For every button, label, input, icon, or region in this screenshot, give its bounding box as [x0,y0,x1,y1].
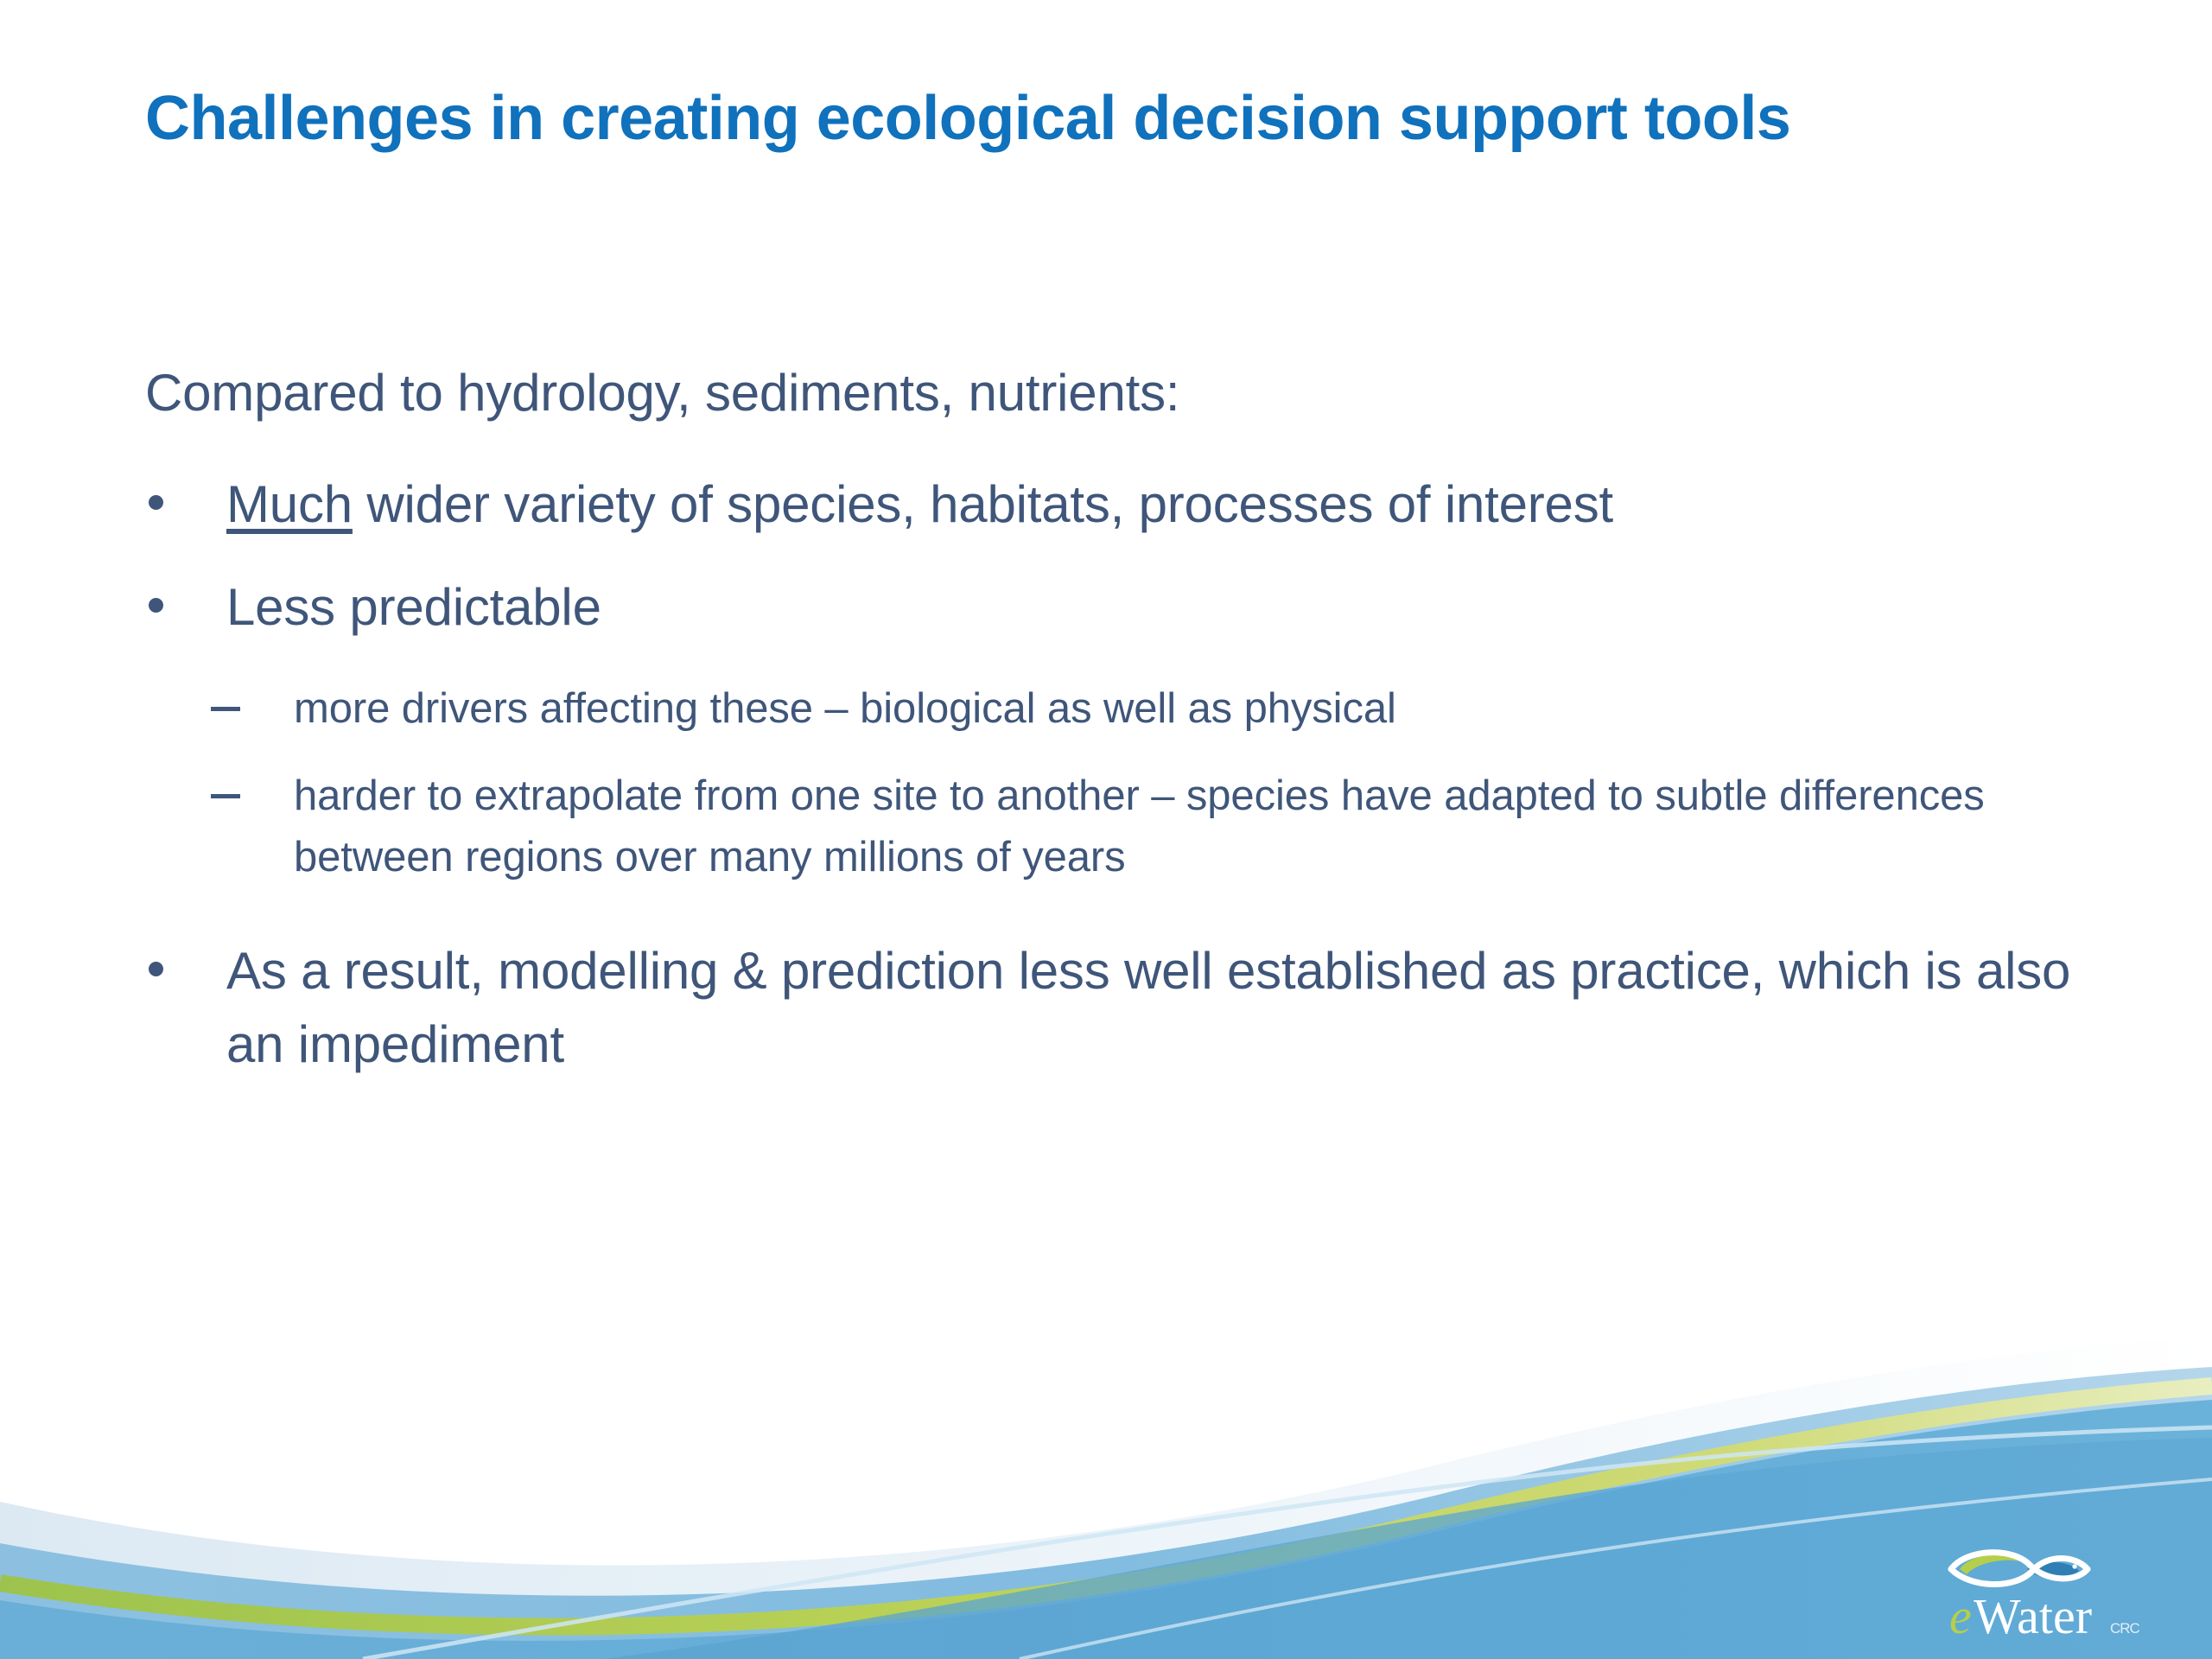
bullet-text: As a result, modelling & prediction less… [226,942,2070,1073]
bullet-emphasis-word: Much [226,475,353,533]
wave-decoration [0,1296,2212,1659]
bullet-dash-icon [211,707,240,711]
sub-list-item: more drivers affecting these – biologica… [145,678,2124,740]
sub-list-item: harder to extrapolate from one site to a… [145,766,2124,888]
bullet-dash-icon [211,794,240,798]
ewater-crc-logo: e Water CRC [1944,1543,2169,1654]
logo-letter-e: e [1949,1588,1972,1644]
slide-canvas: Challenges in creating ecological decisi… [0,0,2212,1659]
bullet-dot-icon [149,598,163,613]
wave-accent-green [0,1386,2212,1627]
bullet-text: wider variety of species, habitats, proc… [353,475,1613,533]
wave-layer-pale [0,1336,2212,1659]
sub-bullet-text: harder to extrapolate from one site to a… [294,772,1985,880]
logo-suffix-crc: CRC [2110,1620,2140,1637]
page-title: Challenges in creating ecological decisi… [145,85,2107,153]
bullet-dot-icon [149,495,163,510]
logo-wordmark: Water [1974,1588,2092,1644]
sub-bullet-text: more drivers affecting these – biologica… [294,685,1396,732]
bullet-dot-icon [149,962,163,976]
slide-body: Compared to hydrology, sediments, nutrie… [145,363,2124,1110]
logo-swoosh-icon [1951,1553,2088,1585]
bullet-text: Less predictable [226,578,601,636]
list-item: Less predictable [145,570,2124,644]
list-item: Much wider variety of species, habitats,… [145,467,2124,541]
list-item: As a result, modelling & prediction less… [145,934,2124,1081]
wave-layer-main [0,1400,2212,1659]
lead-text: Compared to hydrology, sediments, nutrie… [145,363,2124,423]
wave-highlight-line [363,1427,2212,1659]
wave-layer-mid [0,1367,2212,1659]
